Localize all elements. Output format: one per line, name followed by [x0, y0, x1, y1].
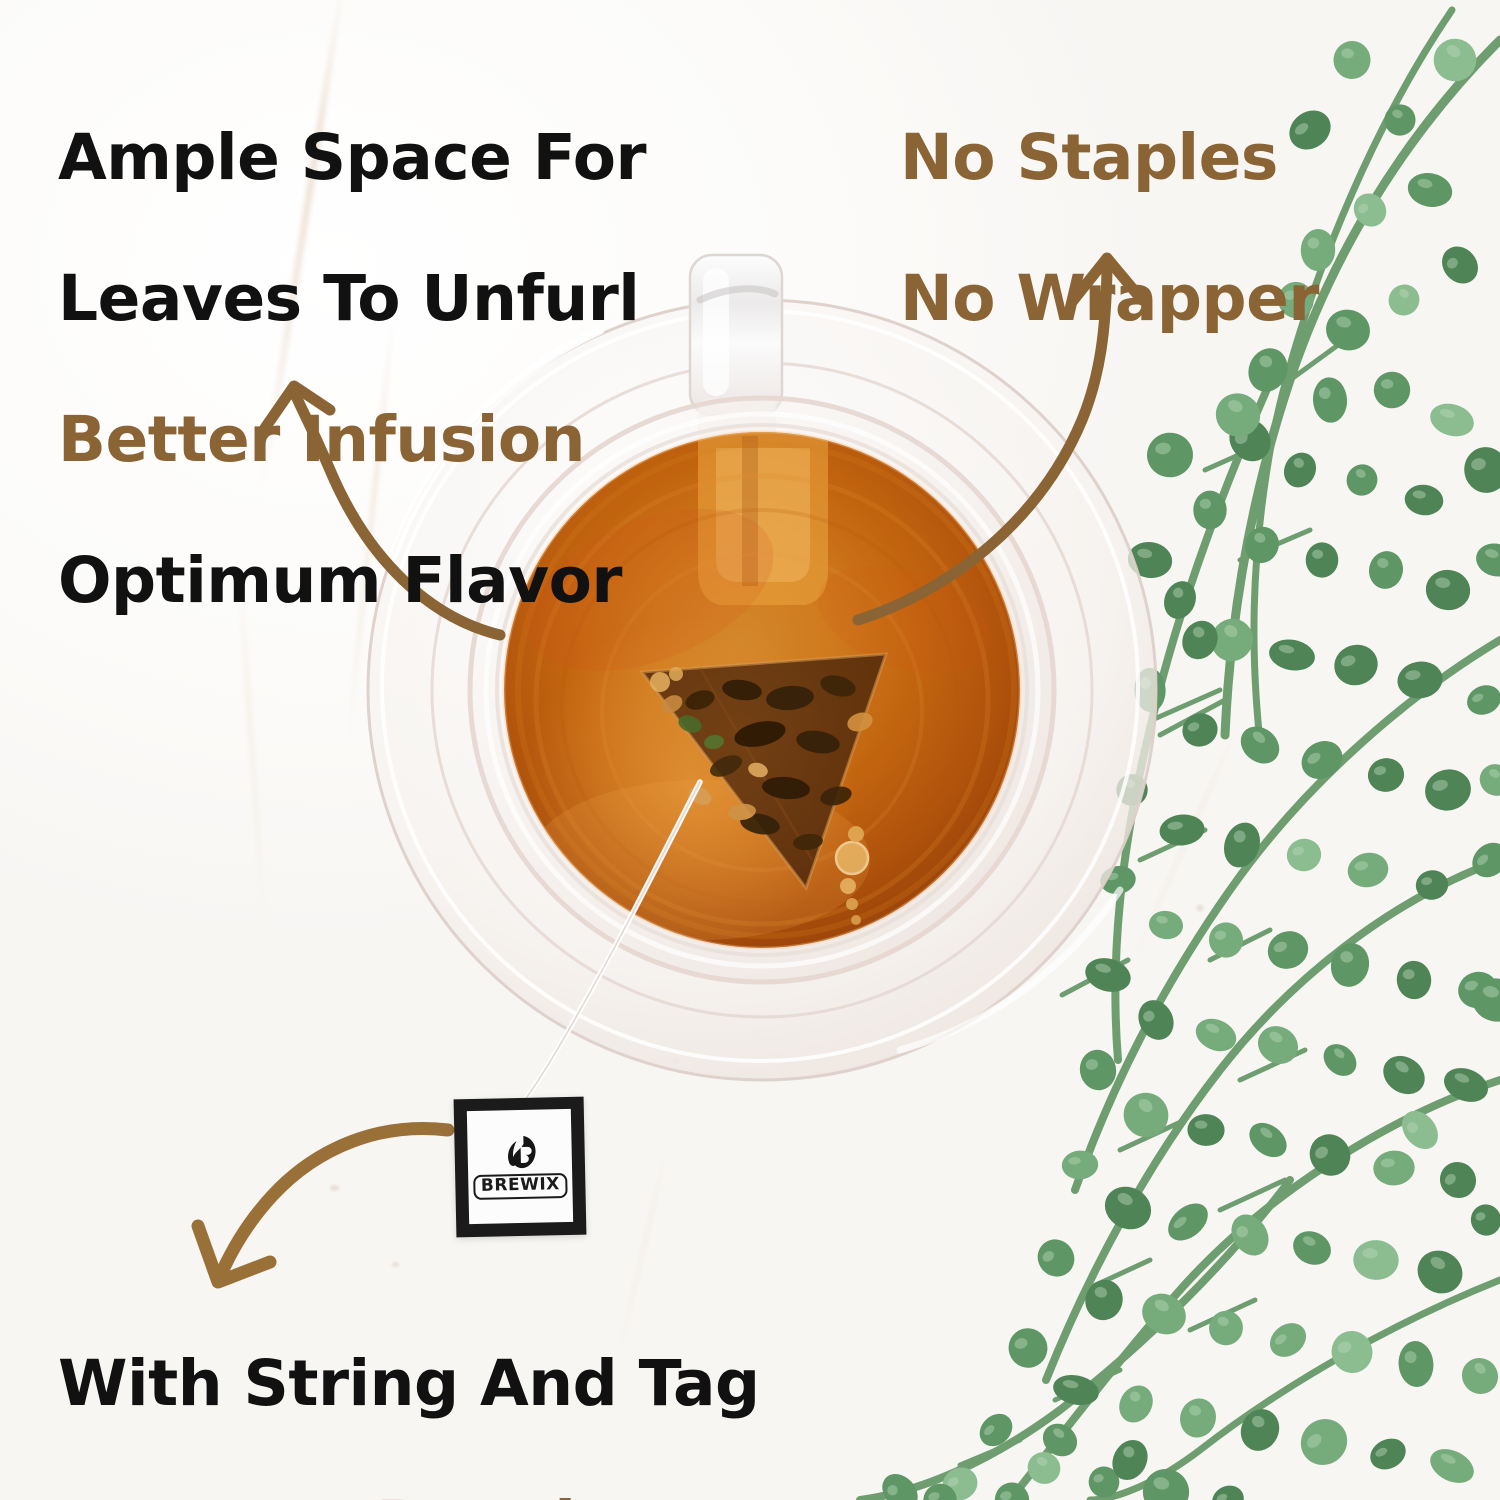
leaf	[1294, 733, 1349, 786]
leaf	[1467, 1201, 1500, 1239]
leaf	[1425, 1442, 1480, 1489]
leaf	[1397, 1340, 1436, 1389]
leaf	[1435, 239, 1486, 291]
leaf	[1426, 399, 1478, 442]
leaf	[1460, 443, 1500, 497]
leaf	[1352, 1239, 1400, 1282]
callout-top-left: Ample Space For Leaves To Unfurl Better …	[58, 52, 646, 687]
callout-tl-line1: Ample Space For	[58, 123, 646, 194]
callout-tr-line2: No Wrapper	[900, 264, 1319, 335]
leaf	[1432, 1154, 1483, 1205]
leaf	[1317, 1038, 1363, 1083]
leaf	[1284, 836, 1325, 875]
leaf	[1193, 491, 1226, 530]
leaf	[1321, 305, 1374, 355]
callout-top-right: No Staples No Wrapper	[900, 52, 1319, 405]
brewix-wordmark: BREWIX	[473, 1173, 568, 1200]
leaf	[1365, 548, 1406, 593]
leaf	[1331, 39, 1372, 81]
leaf	[1373, 371, 1411, 409]
leaf	[1098, 1179, 1159, 1237]
leaf	[1454, 1351, 1500, 1402]
leaf	[1382, 278, 1426, 322]
callout-tl-line4: Optimum Flavor	[58, 546, 646, 617]
callout-tr-line1: No Staples	[900, 123, 1319, 194]
leaf	[1161, 1196, 1215, 1248]
leaf	[1403, 483, 1445, 518]
leaf	[1206, 920, 1245, 960]
brewix-tea-tag: BREWIX	[454, 1097, 587, 1238]
leaf	[1376, 1048, 1432, 1102]
leaf	[1278, 447, 1322, 493]
callout-bl-line2-accent: Easy Brewing	[193, 1488, 665, 1500]
arrow-to-string-tag	[198, 1128, 448, 1282]
leaf	[1395, 658, 1445, 701]
leaf	[1291, 1410, 1356, 1475]
leaf	[1243, 1116, 1294, 1164]
leaf	[1326, 939, 1374, 991]
leaf	[1405, 169, 1456, 211]
leaf	[1176, 615, 1225, 666]
leaf	[1178, 708, 1223, 751]
leaf	[1326, 1326, 1378, 1379]
leaf	[1365, 1433, 1411, 1476]
leaf	[1004, 1323, 1053, 1372]
leaf	[1305, 542, 1339, 578]
leaf	[1267, 636, 1318, 674]
callout-tl-line3: Better Infusion	[58, 405, 646, 476]
leaf	[1050, 1371, 1101, 1409]
leaf	[1145, 431, 1195, 479]
leaf	[1175, 1394, 1221, 1442]
leaf	[1205, 1307, 1247, 1350]
callout-bl-line1: With String And Tag	[58, 1349, 760, 1420]
leaf	[1344, 849, 1391, 891]
callout-bl-line2-prefix: For	[58, 1488, 193, 1500]
callout-bottom-left: With String And Tag For Easy Brewing	[58, 1278, 760, 1500]
leaf	[1113, 1379, 1160, 1428]
leaf	[1147, 908, 1185, 941]
leaf	[1474, 758, 1500, 801]
leaf	[1372, 1149, 1416, 1187]
leaf	[1287, 1225, 1336, 1271]
leaf	[1423, 567, 1473, 613]
brewix-leaf-logo-icon	[499, 1134, 540, 1173]
leaf	[1207, 1480, 1248, 1500]
leaf-highlight	[1200, 499, 1211, 509]
leaf	[1158, 812, 1206, 847]
callout-tl-line2: Leaves To Unfurl	[58, 264, 646, 335]
callout-bl-line2: For Easy Brewing	[58, 1490, 760, 1500]
leaf	[1395, 959, 1433, 1000]
leaf	[1329, 639, 1383, 691]
leaf	[1263, 1316, 1312, 1364]
leaf	[1341, 459, 1383, 502]
leaf	[1187, 1113, 1226, 1147]
leaf	[1420, 764, 1475, 815]
leaf	[1061, 1149, 1100, 1181]
product-infographic: BREWIX Ample Space For Leaves To Unfurl …	[0, 0, 1500, 1500]
leaf	[1030, 1232, 1082, 1284]
leaf	[1365, 755, 1407, 795]
leaf	[1234, 1403, 1286, 1458]
leaf	[1218, 818, 1265, 872]
leaf	[1473, 539, 1500, 580]
